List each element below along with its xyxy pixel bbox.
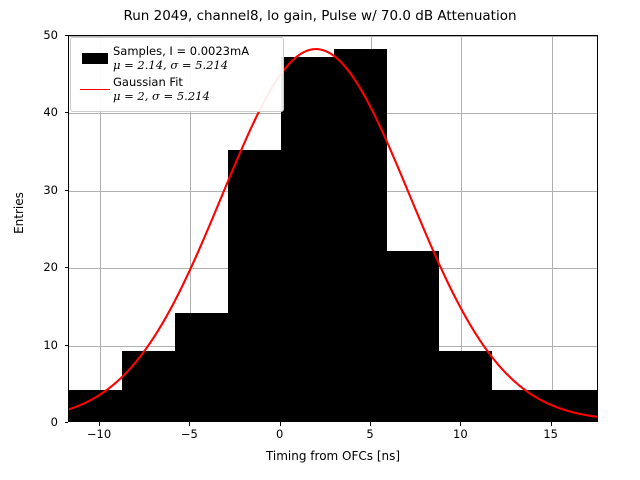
legend-swatch-gaussian-fit [77,89,113,90]
legend-fit-line1: Gaussian Fit [113,75,183,89]
x-axis-tick [460,422,461,426]
x-axis-tick [189,422,190,426]
legend-samples-line2: μ = 2.14, σ = 5.214 [113,58,249,72]
y-axis-tick-label: 30 [43,183,58,197]
legend-entry-samples: Samples, I = 0.0023mA μ = 2.14, σ = 5.21… [77,44,276,72]
x-axis-tick [99,422,100,426]
y-axis-tick [65,190,69,191]
black-patch-icon [82,53,108,64]
red-line-icon [80,89,110,90]
y-axis-tick [65,35,69,36]
x-axis-tick [370,422,371,426]
x-axis-label: Timing from OFCs [ns] [68,449,598,463]
x-axis-tick-label: 0 [276,427,283,441]
x-axis-tick-label: 5 [366,427,373,441]
x-axis-tick-label: 15 [543,427,558,441]
y-axis-label: Entries [12,123,26,303]
legend-swatch-samples [77,53,113,64]
y-axis-tick-label: 50 [43,28,58,42]
y-axis-tick-label: 10 [43,338,58,352]
legend: Samples, I = 0.0023mA μ = 2.14, σ = 5.21… [70,37,284,112]
x-axis-tick [280,422,281,426]
chart-figure: Run 2049, channel8, lo gain, Pulse w/ 70… [0,0,640,480]
chart-title: Run 2049, channel8, lo gain, Pulse w/ 70… [0,8,640,24]
legend-entry-gaussian-fit: Gaussian Fit μ = 2, σ = 5.214 [77,75,276,103]
y-axis-tick [65,267,69,268]
legend-label-samples: Samples, I = 0.0023mA μ = 2.14, σ = 5.21… [113,44,249,72]
y-axis-tick [65,422,69,423]
y-axis-tick-label: 40 [43,105,58,119]
x-axis-tick-label: 10 [453,427,468,441]
legend-label-gaussian-fit: Gaussian Fit μ = 2, σ = 5.214 [113,75,210,103]
y-axis-tick [65,112,69,113]
x-axis-tick [551,422,552,426]
y-axis-tick [65,345,69,346]
legend-fit-line2: μ = 2, σ = 5.214 [113,89,210,103]
y-axis-tick-label: 20 [43,260,58,274]
x-axis-tick-label: −10 [87,427,111,441]
y-axis-tick-label: 0 [51,415,58,429]
x-axis-tick-label: −5 [181,427,198,441]
legend-samples-line1: Samples, I = 0.0023mA [113,44,249,58]
